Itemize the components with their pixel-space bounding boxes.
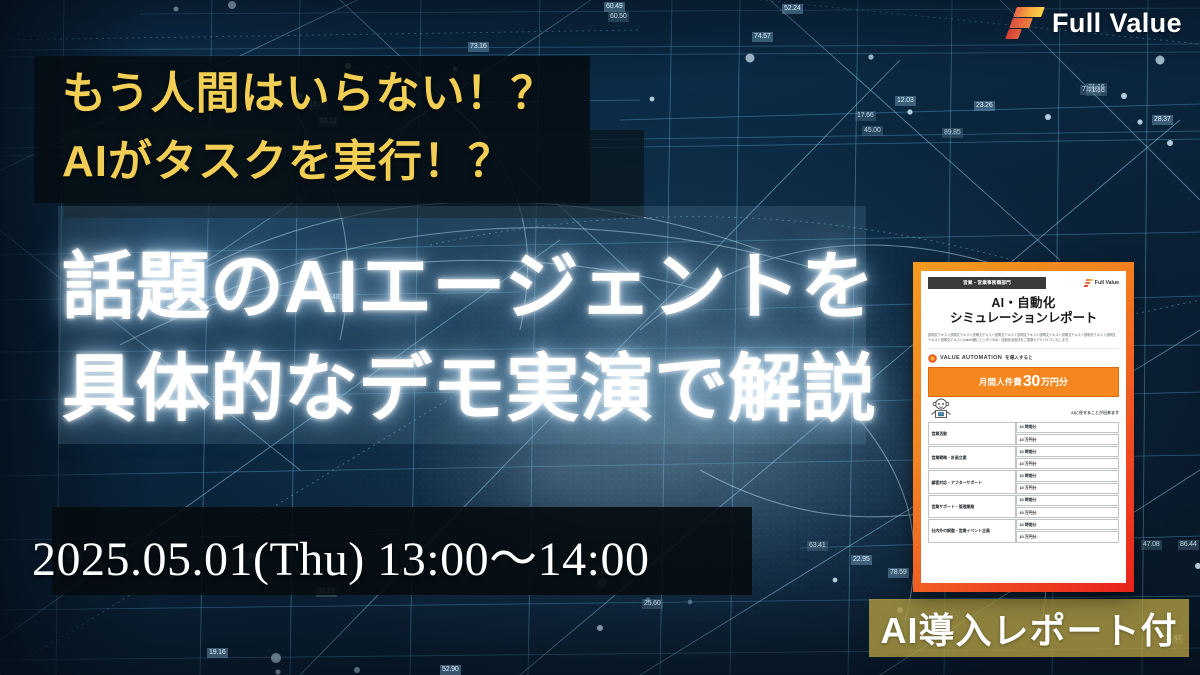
report-title-line-2: シミュレーションレポート (928, 311, 1119, 326)
report-row-label: 営業戦略・計画立案 (928, 446, 1016, 469)
background-price-label: 71.16 (1086, 86, 1107, 96)
table-row: 営業活動10 時間分 (928, 422, 1119, 433)
report-title-line-1: AI・自動化 (928, 296, 1119, 311)
background-price-label: 52.90 (440, 665, 461, 675)
background-price-label: 45.00 (862, 126, 883, 136)
background-price-label: 47.08 (1141, 540, 1162, 550)
report-row-label: 顧客対応・アフターサポート (928, 470, 1016, 493)
gear-icon (928, 354, 937, 363)
background-price-label: 73.16 (468, 42, 489, 52)
report-row-money: 10 万円分 (1016, 507, 1119, 518)
background-price-label: 17.66 (855, 111, 876, 121)
report-automation-line: VALUE AUTOMATION を導入すると (928, 354, 1119, 363)
subheadline-line-1: もう人間はいらない！？ (62, 72, 582, 116)
report-row-label: 営業サポート・管理業務 (928, 495, 1016, 518)
report-row-hours: 10 時間分 (1016, 470, 1119, 481)
report-row-money: 10 万円分 (1016, 458, 1119, 469)
report-body-text: 説明文テキスト説明文テキスト説明文テキスト説明文テキスト説明文テキスト説明文テキ… (928, 333, 1119, 343)
table-row: 社内外の調整・営業イベント企画10 時間分 (928, 519, 1119, 530)
background-price-label: 60.50 (608, 12, 629, 22)
report-header: 営業・営業事務職部門 Full Value (928, 277, 1119, 289)
report-highlight-box: 月間人件費 30 万円分 (928, 367, 1119, 397)
table-row: 営業サポート・管理業務10 時間分 (928, 495, 1119, 506)
background-price-label: 22.95 (851, 555, 872, 565)
robot-character-icon (928, 398, 954, 420)
report-row-label: 社内外の調整・営業イベント企画 (928, 519, 1016, 542)
full-value-f-mark-icon (1007, 6, 1043, 40)
brand-logo: Full Value (1007, 6, 1182, 40)
report-divider (928, 348, 1119, 349)
report-automation-label: VALUE AUTOMATION (940, 355, 1002, 361)
report-row-hours: 10 時間分 (1016, 422, 1119, 433)
simulation-report-card: 営業・営業事務職部門 Full Value AI・自動化 シミュレーションレポー… (913, 262, 1134, 592)
background-price-label: 19.16 (207, 648, 228, 658)
background-price-label: 52.24 (782, 4, 803, 14)
report-bonus-badge: AI導入レポート付 (869, 599, 1189, 657)
report-title: AI・自動化 シミュレーションレポート (928, 296, 1119, 327)
table-row: 営業戦略・計画立案10 時間分 (928, 446, 1119, 457)
webinar-banner: 60.4960.5052.2474.5773.1671.1671.1642.14… (0, 0, 1200, 675)
subheadline-line-2: AIがタスクを実行！？ (62, 140, 582, 184)
report-department-tag: 営業・営業事務職部門 (928, 277, 1046, 289)
background-price-label: 23.26 (974, 101, 995, 111)
background-price-label: 63.41 (807, 541, 828, 551)
report-highlight-prefix: 月間人件費 (979, 376, 1022, 388)
background-price-label: 25.60 (642, 599, 663, 609)
table-row: 顧客対応・アフターサポート10 時間分 (928, 470, 1119, 481)
report-brand-logo-text: Full Value (1095, 280, 1119, 286)
report-breakdown-table: 営業活動10 時間分10 万円分営業戦略・計画立案10 時間分10 万円分顧客対… (928, 421, 1119, 544)
report-row-hours: 10 時間分 (1016, 519, 1119, 530)
report-page: 営業・営業事務職部門 Full Value AI・自動化 シミュレーションレポー… (921, 271, 1126, 583)
report-highlight-unit: 万円分 (1041, 375, 1068, 388)
background-price-label: 86.44 (1178, 540, 1199, 550)
report-row-hours: 10 時間分 (1016, 446, 1119, 457)
background-price-label: 28.37 (1152, 115, 1173, 125)
background-price-label: 74.57 (752, 32, 773, 42)
background-price-label: 60.49 (604, 2, 625, 12)
report-row-money: 10 万円分 (1016, 531, 1119, 542)
report-brand-logo: Full Value (1084, 279, 1119, 287)
report-highlight-number: 30 (1023, 373, 1040, 391)
report-row-label: 営業活動 (928, 422, 1016, 445)
background-price-label: 89.85 (942, 128, 963, 138)
background-price-label: 12.03 (895, 96, 916, 106)
brand-logo-text: Full Value (1052, 8, 1182, 39)
report-note: AIに任せることが出来ます (1071, 410, 1119, 416)
report-full-value-f-mark-icon (1084, 279, 1093, 287)
report-automation-suffix: を導入すると (1005, 355, 1033, 361)
background-price-label: 78.59 (888, 568, 909, 578)
report-note-row: AIに任せることが出来ます (928, 398, 1119, 420)
report-row-money: 10 万円分 (1016, 483, 1119, 494)
report-row-hours: 10 時間分 (1016, 495, 1119, 506)
event-datetime: 2025.05.01(Thu) 13:00〜14:00 (32, 519, 649, 589)
report-row-money: 10 万円分 (1016, 434, 1119, 445)
report-bonus-badge-label: AI導入レポート付 (880, 602, 1177, 654)
